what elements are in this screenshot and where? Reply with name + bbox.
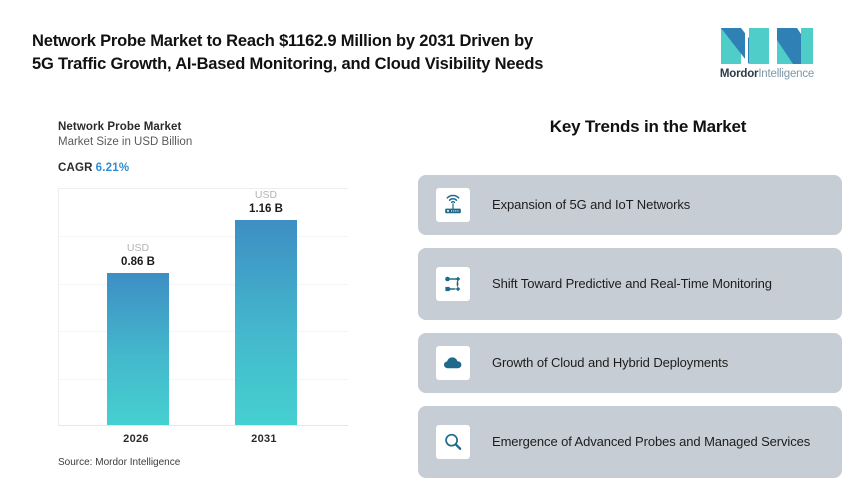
gridline	[59, 379, 348, 380]
trend-card-4[interactable]: Emergence of Advanced Probes and Managed…	[418, 406, 842, 478]
trend-card-3-label: Growth of Cloud and Hybrid Deployments	[492, 354, 728, 372]
page-title: Network Probe Market to Reach $1162.9 Mi…	[32, 30, 692, 77]
cagr-label: CAGR6.21%	[58, 162, 129, 174]
mordor-intelligence-logo-mark-icon	[715, 26, 819, 66]
trend-card-1-label: Expansion of 5G and IoT Networks	[492, 196, 690, 214]
x-tick-label-2026: 2026	[96, 433, 176, 445]
trend-card-1[interactable]: Expansion of 5G and IoT Networks	[418, 175, 842, 235]
bar-label-2031: USD 1.16 B	[225, 189, 307, 217]
gridline	[59, 284, 348, 285]
trend-card-2[interactable]: Shift Toward Predictive and Real-Time Mo…	[418, 248, 842, 320]
network-nodes-icon	[436, 267, 470, 301]
bar-unit-2026: USD	[97, 242, 179, 255]
page-title-line-2: 5G Traffic Growth, AI-Based Monitoring, …	[32, 53, 692, 76]
trend-card-4-label: Emergence of Advanced Probes and Managed…	[492, 433, 810, 451]
x-tick-label-2031: 2031	[224, 433, 304, 445]
trend-card-3[interactable]: Growth of Cloud and Hybrid Deployments	[418, 333, 842, 393]
key-trends-heading: Key Trends in the Market	[436, 117, 860, 137]
bar-value-2026: 0.86 B	[97, 255, 179, 269]
brand-logo: MordorIntelligence	[707, 26, 827, 88]
chart-title: Network Probe Market	[58, 121, 181, 133]
wireless-router-icon	[436, 188, 470, 222]
chart-subtitle: Market Size in USD Billion	[58, 136, 192, 148]
chart-plot-area: USD 0.86 B USD 1.16 B	[58, 188, 348, 426]
bar-unit-2031: USD	[225, 189, 307, 202]
magnifier-icon	[436, 425, 470, 459]
cloud-icon	[436, 346, 470, 380]
market-size-chart-panel: Network Probe Market Market Size in USD …	[0, 105, 400, 492]
brand-logo-wordmark: MordorIntelligence	[707, 68, 827, 80]
page-title-line-1: Network Probe Market to Reach $1162.9 Mi…	[32, 30, 692, 53]
chart-x-axis	[59, 425, 348, 426]
page-header: Network Probe Market to Reach $1162.9 Mi…	[0, 0, 860, 100]
bar-2031	[235, 220, 297, 425]
bar-value-2031: 1.16 B	[225, 202, 307, 216]
gridline	[59, 331, 348, 332]
chart-source: Source: Mordor Intelligence	[58, 457, 180, 468]
cagr-label-text: CAGR	[58, 162, 93, 174]
trend-card-2-label: Shift Toward Predictive and Real-Time Mo…	[492, 275, 772, 293]
logo-word-mordor: Mordor	[720, 68, 758, 80]
bar-label-2026: USD 0.86 B	[97, 242, 179, 270]
cagr-value: 6.21%	[96, 162, 130, 174]
logo-word-intelligence: Intelligence	[758, 68, 814, 80]
key-trends-panel: Key Trends in the Market Exp	[410, 105, 860, 492]
bar-2026	[107, 273, 169, 425]
gridline	[59, 236, 348, 237]
